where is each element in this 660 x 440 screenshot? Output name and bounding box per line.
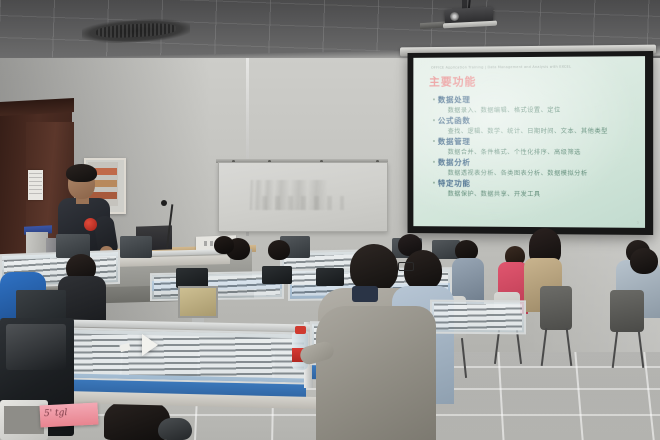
door-notice-text-lines bbox=[29, 173, 42, 197]
bullet-dot-icon bbox=[433, 98, 435, 100]
attendee-head bbox=[350, 244, 398, 292]
slide-bullet: 公式函数 bbox=[433, 115, 637, 126]
presenter-shirt-logo bbox=[84, 218, 97, 231]
eyeglasses-icon bbox=[398, 262, 414, 271]
monitor bbox=[262, 266, 292, 284]
attendee-head bbox=[630, 248, 658, 274]
presenter-hair bbox=[66, 164, 97, 182]
bullet-heading: 特定功能 bbox=[438, 178, 471, 189]
computer-mouse[interactable] bbox=[158, 418, 192, 440]
whiteboard-erased-writing bbox=[262, 196, 344, 210]
chair[interactable] bbox=[540, 286, 572, 330]
bullet-subtext: 数据合并、条件格式、个性化排序、高级筛选 bbox=[448, 147, 637, 156]
bullet-subtext: 数据保护、数据共享、开发工具 bbox=[448, 189, 637, 199]
monitor-screen bbox=[178, 286, 218, 318]
bullet-subtext: 查找、逻辑、数学、统计、日期时间、文本、其他类型 bbox=[448, 126, 637, 135]
bullet-heading: 公式函数 bbox=[438, 115, 471, 126]
monitor bbox=[176, 268, 208, 288]
presentation-slide: OFFICE Application Training | Data Manag… bbox=[413, 56, 645, 228]
bullet-dot-icon bbox=[433, 119, 435, 121]
slide-bullet: 数据管理 bbox=[433, 136, 637, 147]
monitor bbox=[316, 268, 344, 286]
projection-screen: OFFICE Application Training | Data Manag… bbox=[413, 56, 645, 228]
slide-title: 主要功能 bbox=[429, 72, 637, 89]
slide-bullet-group: 公式函数 查找、逻辑、数学、统计、日期时间、文本、其他类型 bbox=[433, 115, 637, 135]
chair[interactable] bbox=[610, 290, 644, 332]
slide-bullet: 特定功能 bbox=[433, 178, 637, 190]
desk-partition-louvres bbox=[434, 304, 522, 331]
bullet-heading: 数据分析 bbox=[438, 157, 471, 168]
water-bottle-cap bbox=[295, 326, 306, 334]
attendee-body bbox=[316, 306, 436, 440]
slide-bullet: 数据分析 bbox=[433, 157, 637, 168]
attendee-head bbox=[214, 236, 234, 254]
slide-bullet-group: 数据分析 数据透视表分析、各类图表分析、数据模拟分析 bbox=[433, 157, 637, 177]
bullet-heading: 数据处理 bbox=[438, 94, 471, 105]
bullet-subtext: 数据录入、数据编辑、格式设置、定位 bbox=[448, 105, 637, 115]
paper-triangle bbox=[142, 334, 158, 356]
monitor-screen bbox=[4, 406, 44, 434]
bullet-heading: 数据管理 bbox=[438, 136, 471, 147]
slide-header-text: OFFICE Application Training | Data Manag… bbox=[431, 64, 637, 69]
projector-lens bbox=[450, 12, 459, 21]
classroom-photo: OFFICE Application Training | Data Manag… bbox=[0, 0, 660, 440]
bullet-dot-icon bbox=[433, 161, 435, 163]
microphone-icon bbox=[161, 200, 167, 206]
bullet-dot-icon bbox=[433, 140, 435, 142]
monitor-glare bbox=[6, 324, 66, 370]
slide-page-number: 5 bbox=[637, 221, 639, 225]
bullet-subtext: 数据透视表分析、各类图表分析、数据模拟分析 bbox=[448, 168, 637, 178]
slide-bullet-group: 数据处理 数据录入、数据编辑、格式设置、定位 bbox=[433, 94, 637, 115]
desk-partition-louvres bbox=[70, 334, 304, 379]
attendee-head bbox=[268, 240, 290, 260]
slide-bullet-group: 特定功能 数据保护、数据共享、开发工具 bbox=[433, 178, 637, 199]
slide-bullet-group: 数据管理 数据合并、条件格式、个性化排序、高级筛选 bbox=[433, 136, 637, 156]
slide-bullet: 数据处理 bbox=[433, 94, 637, 106]
attendee-collar bbox=[352, 286, 378, 302]
bullet-dot-icon bbox=[433, 182, 435, 184]
monitor bbox=[120, 236, 152, 258]
